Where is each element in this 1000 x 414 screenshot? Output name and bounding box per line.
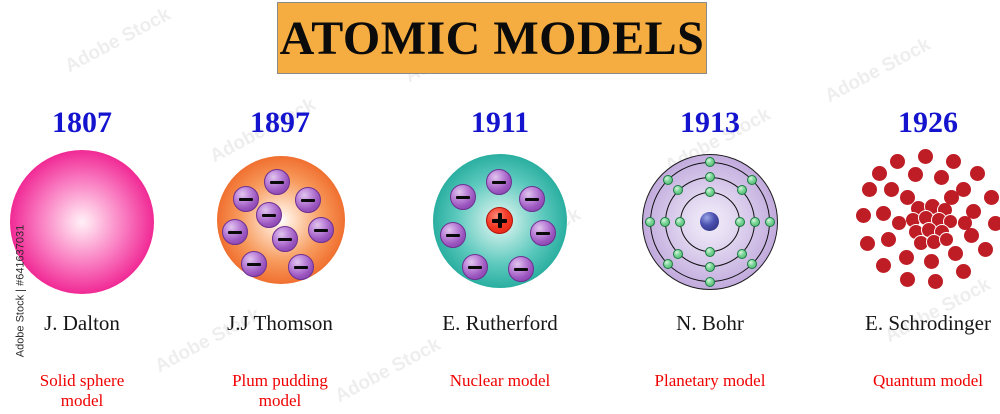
cloud-dot — [856, 208, 871, 223]
electron — [660, 217, 670, 227]
minus-icon — [228, 231, 242, 234]
watermark-tile: Adobe Stock — [822, 34, 935, 108]
cloud-dot — [872, 166, 887, 181]
electron — [308, 217, 334, 243]
plus-icon — [492, 219, 507, 223]
model-caption: Solid sphere model — [0, 371, 182, 412]
electron — [222, 219, 248, 245]
cloud-dot — [862, 182, 877, 197]
electron — [705, 157, 715, 167]
model-year: 1926 — [828, 108, 1000, 138]
cloud-dot — [876, 258, 891, 273]
model-column-schrodinger: 1926 — [828, 108, 1000, 391]
minus-icon — [278, 238, 292, 241]
electron — [747, 175, 757, 185]
model-column-rutherford: 1911 E. Rutherford Nuclear model — [400, 108, 600, 391]
cloud-dot — [881, 232, 896, 247]
electron — [705, 277, 715, 287]
minus-icon — [247, 263, 261, 266]
scientist-name: E. Schrodinger — [828, 312, 1000, 335]
caption-line-2: model — [0, 391, 182, 411]
electron — [241, 251, 267, 277]
electron — [765, 217, 775, 227]
electron — [256, 202, 282, 228]
minus-icon — [314, 229, 328, 232]
model-caption: Nuclear model — [400, 371, 600, 391]
scientist-name: N. Bohr — [610, 312, 810, 335]
cloud-dot — [978, 242, 993, 257]
cloud-dot — [984, 190, 999, 205]
minus-icon — [536, 232, 550, 235]
infographic-canvas: Adobe Stock Adobe Stock Adobe Stock Adob… — [0, 0, 1000, 414]
minus-icon — [525, 198, 539, 201]
electron — [675, 217, 685, 227]
minus-icon — [492, 181, 506, 184]
electron — [440, 222, 466, 248]
electron — [288, 254, 314, 280]
electron — [663, 175, 673, 185]
cloud-dot — [988, 216, 1000, 231]
cloud-dot — [944, 190, 959, 205]
electron — [645, 217, 655, 227]
cloud-dot — [900, 272, 915, 287]
model-year: 1897 — [180, 108, 380, 138]
watermark-tile: Adobe Stock — [62, 4, 175, 78]
model-column-dalton: 1807 J. Dalton Solid sphere model — [0, 108, 182, 412]
minus-icon — [468, 266, 482, 269]
page-title: ATOMIC MODELS — [280, 11, 705, 66]
electron — [705, 172, 715, 182]
cloud-dot — [928, 274, 943, 289]
electron — [272, 226, 298, 252]
caption-line-1: Planetary model — [610, 371, 810, 391]
cloud-dot — [892, 216, 906, 230]
model-year: 1807 — [0, 108, 182, 138]
caption-line-2: model — [180, 391, 380, 411]
minus-icon — [239, 198, 253, 201]
caption-line-1: Nuclear model — [400, 371, 600, 391]
diagram-plum-pudding — [200, 146, 360, 306]
cloud-dot — [884, 182, 899, 197]
cloud-dot — [900, 190, 915, 205]
caption-line-1: Plum pudding — [180, 371, 380, 391]
electron — [673, 185, 683, 195]
electron — [673, 249, 683, 259]
electron — [462, 254, 488, 280]
cloud-dot — [956, 264, 971, 279]
title-banner: ATOMIC MODELS — [277, 2, 707, 74]
scientist-name: J. Dalton — [0, 312, 182, 335]
minus-icon — [514, 268, 528, 271]
electron — [705, 262, 715, 272]
electron — [737, 185, 747, 195]
cloud-dot — [946, 154, 961, 169]
electron — [450, 184, 476, 210]
model-year: 1913 — [610, 108, 810, 138]
minus-icon — [270, 181, 284, 184]
electron — [747, 259, 757, 269]
model-year: 1911 — [400, 108, 600, 138]
electron — [705, 187, 715, 197]
cloud-dot — [860, 236, 875, 251]
model-column-bohr: 1913 — [610, 108, 810, 391]
nucleus — [700, 212, 719, 231]
minus-icon — [294, 266, 308, 269]
model-column-thomson: 1897 J.J Thomson Plum pudding model — [180, 108, 380, 412]
stock-credit-watermark: Adobe Stock | #641637031 — [15, 224, 27, 359]
electron — [735, 217, 745, 227]
cloud-dot — [890, 154, 905, 169]
model-caption: Planetary model — [610, 371, 810, 391]
cloud-dot — [970, 166, 985, 181]
minus-icon — [301, 199, 315, 202]
electron — [705, 247, 715, 257]
electron — [530, 220, 556, 246]
electron — [508, 256, 534, 282]
model-caption: Plum pudding model — [180, 371, 380, 412]
electron — [737, 249, 747, 259]
minus-icon — [446, 234, 460, 237]
electron — [295, 187, 321, 213]
cloud-dot — [958, 216, 972, 230]
electron — [750, 217, 760, 227]
cloud-dot — [924, 254, 939, 269]
minus-icon — [456, 196, 470, 199]
diagram-nuclear — [420, 146, 580, 306]
caption-line-1: Solid sphere — [0, 371, 182, 391]
cloud-dot — [908, 167, 923, 182]
electron — [233, 186, 259, 212]
electron — [486, 169, 512, 195]
cloud-dot — [918, 149, 933, 164]
cloud-dot — [948, 246, 963, 261]
diagram-planetary — [630, 146, 790, 306]
minus-icon — [262, 214, 276, 217]
electron — [519, 186, 545, 212]
electron — [264, 169, 290, 195]
electron — [663, 259, 673, 269]
nucleus-dot — [939, 232, 954, 247]
scientist-name: J.J Thomson — [180, 312, 380, 335]
cloud-dot — [876, 206, 891, 221]
cloud-dot — [934, 170, 949, 185]
cloud-dot — [899, 250, 914, 265]
scientist-name: E. Rutherford — [400, 312, 600, 335]
caption-line-1: Quantum model — [828, 371, 1000, 391]
diagram-quantum-cloud — [848, 146, 1000, 306]
dalton-sphere-shape — [10, 150, 154, 294]
cloud-dot — [964, 228, 979, 243]
nucleus — [486, 207, 513, 234]
model-caption: Quantum model — [828, 371, 1000, 391]
